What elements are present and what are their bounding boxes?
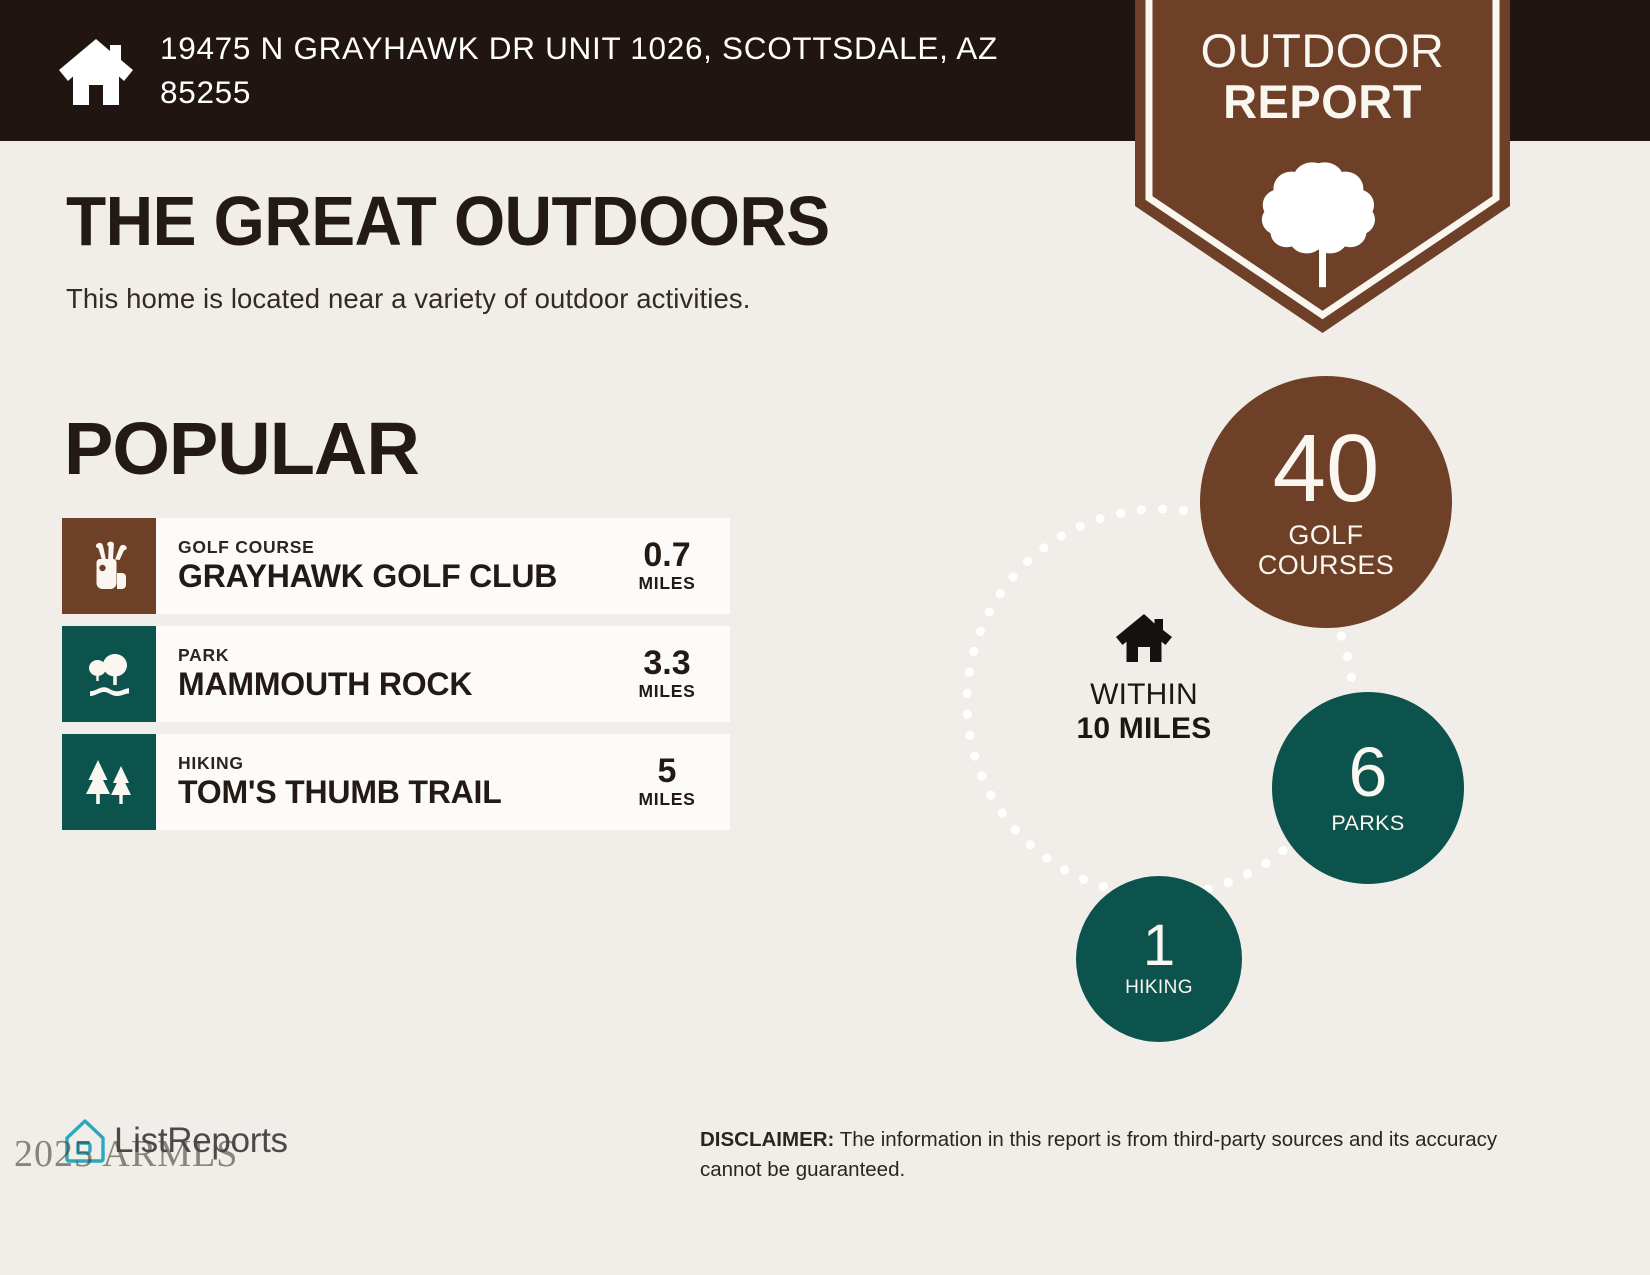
home-icon	[1113, 612, 1175, 664]
poi-name: TOM'S THUMB TRAIL	[178, 774, 618, 812]
popular-list: GOLF COURSE GRAYHAWK GOLF CLUB 0.7 MILES…	[62, 518, 730, 842]
outdoor-report-badge: OUTDOOR REPORT	[1135, 0, 1510, 333]
poi-name: GRAYHAWK GOLF CLUB	[178, 558, 618, 596]
stat-label: GOLF COURSES	[1258, 521, 1394, 580]
center-label-line2: 10 MILES	[1024, 712, 1264, 746]
poi-distance: 5 MILES	[618, 754, 722, 811]
badge-title: OUTDOOR REPORT	[1135, 26, 1510, 128]
stat-label-line1: GOLF	[1258, 521, 1394, 551]
stat-label: PARKS	[1331, 812, 1404, 836]
home-icon	[55, 35, 137, 107]
stat-circle-parks[interactable]: 6 PARKS	[1272, 692, 1464, 884]
poi-distance-unit: MILES	[618, 789, 716, 810]
popular-section-title: POPULAR	[64, 412, 419, 486]
poi-distance-value: 5	[618, 754, 716, 790]
pine-trees-icon	[62, 734, 156, 830]
poi-distance-unit: MILES	[618, 681, 716, 702]
poi-category: HIKING	[178, 753, 618, 773]
list-item[interactable]: PARK MAMMOUTH ROCK 3.3 MILES	[62, 626, 730, 722]
disclaimer: DISCLAIMER: The information in this repo…	[700, 1125, 1510, 1184]
amenities-diagram: WITHIN 10 MILES 40 GOLF COURSES 6 PARKS …	[830, 330, 1530, 1050]
stat-value: 40	[1273, 424, 1380, 514]
golf-bag-icon	[62, 518, 156, 614]
list-item[interactable]: HIKING TOM'S THUMB TRAIL 5 MILES	[62, 734, 730, 830]
disclaimer-label: DISCLAIMER:	[700, 1128, 834, 1151]
stat-value: 6	[1349, 740, 1388, 806]
poi-distance: 0.7 MILES	[618, 538, 722, 595]
badge-title-line2: REPORT	[1135, 77, 1510, 128]
list-item[interactable]: GOLF COURSE GRAYHAWK GOLF CLUB 0.7 MILES	[62, 518, 730, 614]
page-title: THE GREAT OUTDOORS	[66, 186, 1006, 256]
park-trees-icon	[62, 626, 156, 722]
center-label-line1: WITHIN	[1024, 678, 1264, 712]
title-block: THE GREAT OUTDOORS This home is located …	[66, 186, 1066, 315]
poi-distance-value: 3.3	[618, 646, 716, 682]
poi-category: GOLF COURSE	[178, 537, 618, 557]
poi-name: MAMMOUTH ROCK	[178, 666, 618, 704]
stat-circle-golf-courses[interactable]: 40 GOLF COURSES	[1200, 376, 1452, 628]
poi-distance-unit: MILES	[618, 573, 716, 594]
stat-label-line2: COURSES	[1258, 551, 1394, 581]
stat-label: HIKING	[1125, 978, 1193, 999]
mls-watermark: 2025 ARMLS	[14, 1132, 238, 1176]
stat-circle-hiking[interactable]: 1 HIKING	[1076, 876, 1242, 1042]
poi-distance-value: 0.7	[618, 538, 716, 574]
page-subtitle: This home is located near a variety of o…	[66, 283, 1066, 315]
poi-distance: 3.3 MILES	[618, 646, 722, 703]
poi-category: PARK	[178, 645, 618, 665]
badge-title-line1: OUTDOOR	[1135, 26, 1510, 77]
property-address: 19475 N GRAYHAWK DR UNIT 1026, SCOTTSDAL…	[160, 27, 1040, 114]
diagram-center-label: WITHIN 10 MILES	[1024, 612, 1264, 745]
stat-value: 1	[1143, 919, 1175, 974]
